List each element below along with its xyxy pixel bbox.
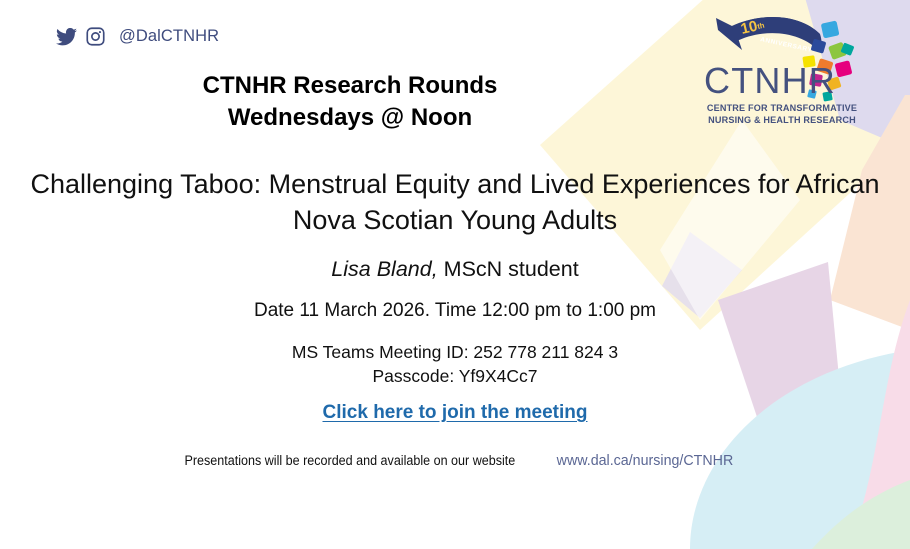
- decor-pale-green-corner: [812, 480, 910, 549]
- website-url[interactable]: www.dal.ca/nursing/CTNHR: [557, 452, 734, 469]
- presenter-name: Lisa Bland,: [331, 257, 437, 281]
- footer-line: Presentations will be recorded and avail…: [0, 452, 910, 469]
- join-meeting-link[interactable]: Click here to join the meeting: [323, 402, 588, 423]
- social-handle-text: @DalCTNHR: [119, 27, 219, 46]
- join-meeting-link-wrap: Click here to join the meeting: [0, 402, 910, 424]
- decor-pale-pink-strip: [848, 300, 910, 549]
- ctnhr-logo: 10 th ANNIVERSARY CTNHR CENTRE FOR TRANS…: [702, 8, 882, 133]
- logo-tagline: CENTRE FOR TRANSFORMATIVE NURSING & HEAL…: [704, 103, 860, 126]
- instagram-camera-icon[interactable]: [86, 27, 105, 46]
- logo-tagline-line1: CENTRE FOR TRANSFORMATIVE: [704, 103, 860, 115]
- logo-wordmark: CTNHR: [704, 63, 836, 99]
- series-title-line1: CTNHR Research Rounds: [0, 70, 700, 102]
- meeting-details: MS Teams Meeting ID: 252 778 211 824 3 P…: [0, 341, 910, 389]
- social-handles: @DalCTNHR: [56, 27, 219, 46]
- meeting-passcode-line: Passcode: Yf9X4Cc7: [0, 365, 910, 389]
- series-title-line2: Wednesdays @ Noon: [0, 102, 700, 134]
- meeting-id-line: MS Teams Meeting ID: 252 778 211 824 3: [0, 341, 910, 365]
- series-title: CTNHR Research Rounds Wednesdays @ Noon: [0, 70, 700, 133]
- presentation-slide: @DalCTNHR 10 th ANNIVERSARY: [0, 0, 910, 549]
- presenter-credentials: MScN student: [444, 257, 579, 281]
- logo-tagline-line2: NURSING & HEALTH RESEARCH: [704, 115, 860, 127]
- twitter-bird-icon[interactable]: [56, 28, 77, 46]
- presenter-line: Lisa Bland, MScN student: [0, 257, 910, 282]
- talk-title: Challenging Taboo: Menstrual Equity and …: [30, 166, 880, 239]
- date-time-line: Date 11 March 2026. Time 12:00 pm to 1:0…: [0, 300, 910, 322]
- footer-note: Presentations will be recorded and avail…: [185, 453, 516, 468]
